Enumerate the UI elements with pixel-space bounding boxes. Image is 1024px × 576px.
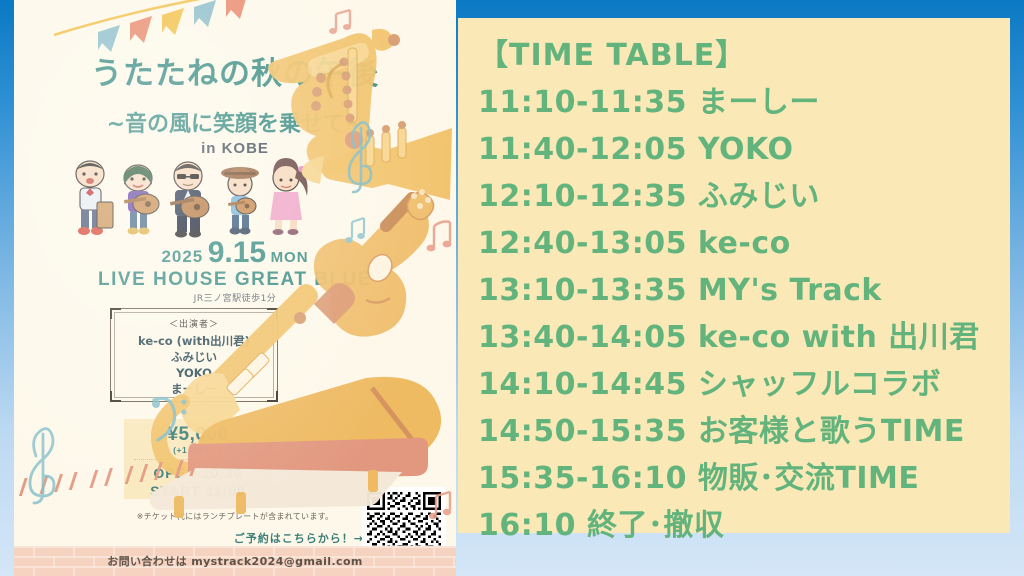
time-table-row: 11:40-12:05 YOKO bbox=[478, 126, 1010, 173]
time-table-panel: 【TIME TABLE】 11:10-11:35 まーしー 11:40-12:0… bbox=[458, 18, 1010, 533]
ticket-price: ¥5,000 bbox=[124, 424, 272, 446]
time-table-row: 14:50-15:35 お客様と歌うTIME bbox=[478, 408, 1010, 455]
time-table-row: 11:10-11:35 まーしー bbox=[478, 79, 1010, 126]
performer-item: ke-co (with出川君) bbox=[111, 333, 277, 349]
music-note-icon bbox=[329, 10, 351, 34]
ticket-open-time: OPEN 10:30 bbox=[124, 465, 272, 481]
time-table-row: 13:40-14:05 ke-co with 出川君 bbox=[478, 314, 1010, 361]
time-table-row: 12:40-13:05 ke-co bbox=[478, 220, 1010, 267]
poster-subtitle: ~音の風に笑顔を乗せて~ bbox=[14, 106, 456, 138]
performers-box: ＜出演者＞ ke-co (with出川君) ふみじい YOKO まーしー bbox=[110, 308, 278, 402]
reservation-note: ご予約はこちらから！→ bbox=[234, 530, 364, 546]
time-table-row: 12:10-12:35 ふみじい bbox=[478, 173, 1010, 220]
ticket-perforation bbox=[134, 459, 262, 460]
brick-footer: お問い合わせは mystrack2024@gmail.com bbox=[14, 546, 456, 576]
performer-item: ふみじい bbox=[111, 349, 277, 365]
screenshot-root: うたたねの秋の午後 ~音の風に笑顔を乗せて~ in KOBE bbox=[0, 0, 1024, 576]
poster-title: うたたねの秋の午後 bbox=[14, 48, 456, 93]
time-table-heading: 【TIME TABLE】 bbox=[478, 32, 1010, 79]
contact-email: お問い合わせは mystrack2024@gmail.com bbox=[14, 553, 456, 569]
poster-date: 2025 9.15 MON bbox=[14, 236, 456, 270]
poster-venue: LIVE HOUSE GREAT BLUE bbox=[14, 269, 456, 291]
poster-access: JR三ノ宮駅徒歩1分 bbox=[14, 291, 456, 304]
treble-clef-icon bbox=[30, 429, 54, 503]
time-table-row: 15:35-16:10 物販･交流TIME bbox=[478, 455, 1010, 502]
performers-list: ke-co (with出川君) ふみじい YOKO まーしー bbox=[111, 333, 277, 397]
performer-item: YOKO bbox=[111, 365, 277, 381]
ticket-start-time: START 11:00 bbox=[124, 483, 272, 499]
time-table-row: 16:10 終了･撤収 bbox=[478, 502, 1010, 549]
band-members-illustration bbox=[64, 152, 314, 240]
performers-heading: ＜出演者＞ bbox=[111, 317, 277, 330]
time-table-row: 13:10-13:35 MY's Track bbox=[478, 267, 1010, 314]
performer-item: まーしー bbox=[111, 381, 277, 397]
ticket-price-box: ¥5,000 (+1 DRINK) OPEN 10:30 START 11:00 bbox=[124, 419, 272, 499]
event-poster: うたたねの秋の午後 ~音の風に笑顔を乗せて~ in KOBE bbox=[14, 0, 456, 576]
poster-date-dow: MON bbox=[271, 249, 309, 266]
poster-date-year: 2025 bbox=[161, 247, 203, 266]
time-table-row: 14:10-14:45 シャッフルコラボ bbox=[478, 361, 1010, 408]
poster-date-main: 9.15 bbox=[208, 236, 266, 269]
ticket-drink-note: (+1 DRINK) bbox=[124, 445, 272, 455]
